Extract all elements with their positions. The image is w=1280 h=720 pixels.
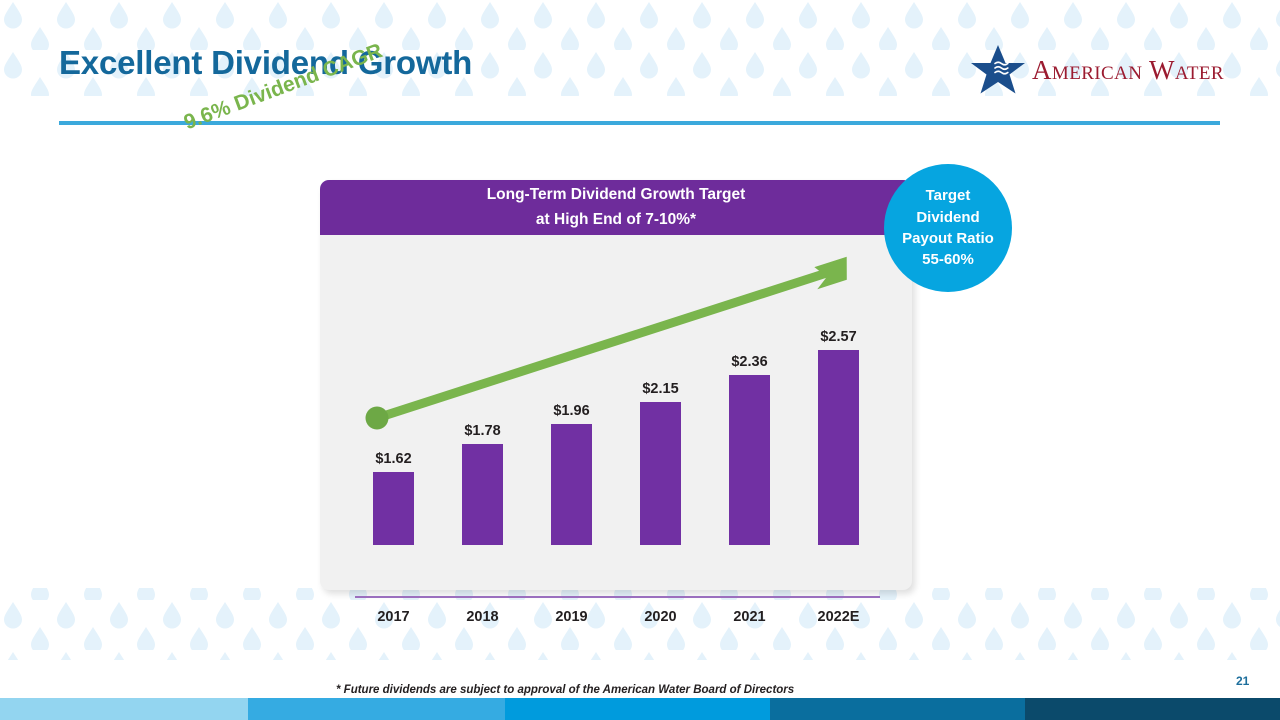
bar-rect xyxy=(818,350,859,545)
bottom-bar-segment-1 xyxy=(0,698,248,720)
callout-line4: 55-60% xyxy=(922,249,974,270)
chart-plot-area: $1.62 $1.78 $1.96 $2.15 $2.36 $2.57 xyxy=(320,235,912,590)
x-axis-categories: 2017 2018 2019 2020 2021 2022E xyxy=(353,609,879,625)
chart-header-line1: Long-Term Dividend Growth Target xyxy=(487,183,746,207)
page-title: Excellent Dividend Growth xyxy=(59,44,472,82)
bar-column: $2.15 xyxy=(620,235,701,545)
x-axis-tick-label: 2022E xyxy=(798,609,879,625)
bar-column: $2.57 xyxy=(798,235,879,545)
bar-value-label: $2.15 xyxy=(642,381,678,397)
callout-line3: Payout Ratio xyxy=(902,228,994,249)
bar-rect xyxy=(729,375,770,545)
x-axis-tick-label: 2020 xyxy=(620,609,701,625)
logo-wordmark: American Water xyxy=(1028,57,1224,84)
x-axis-line xyxy=(355,596,880,598)
bar-column: $1.96 xyxy=(531,235,612,545)
payout-ratio-callout: Target Dividend Payout Ratio 55-60% xyxy=(884,164,1012,292)
x-axis-tick-label: 2019 xyxy=(531,609,612,625)
bar-rect xyxy=(373,472,414,545)
x-axis-tick-label: 2021 xyxy=(709,609,790,625)
american-water-logo: American Water xyxy=(968,44,1220,96)
title-divider xyxy=(59,121,1220,125)
bottom-bar-segment-2 xyxy=(248,698,505,720)
bar-rect xyxy=(462,444,503,545)
bar-value-label: $1.62 xyxy=(375,451,411,467)
page-number: 21 xyxy=(1236,674,1249,688)
footnote: * Future dividends are subject to approv… xyxy=(336,684,794,696)
callout-line1: Target xyxy=(926,185,971,206)
bottom-color-bar xyxy=(0,698,1280,720)
chart-header-line2: at High End of 7-10%* xyxy=(536,208,696,232)
bar-column: $2.36 xyxy=(709,235,790,545)
bar-column: $1.78 xyxy=(442,235,523,545)
dividend-chart-card: Long-Term Dividend Growth Target at High… xyxy=(320,180,912,590)
bar-column: $1.62 xyxy=(353,235,434,545)
callout-line2: Dividend xyxy=(916,207,979,228)
star-icon xyxy=(968,44,1028,96)
x-axis-tick-label: 2018 xyxy=(442,609,523,625)
bar-value-label: $2.36 xyxy=(731,354,767,370)
bottom-bar-segment-3 xyxy=(505,698,770,720)
bar-value-label: $1.96 xyxy=(553,403,589,419)
bottom-bar-segment-4 xyxy=(770,698,1025,720)
bar-value-label: $2.57 xyxy=(820,329,856,345)
bar-value-label: $1.78 xyxy=(464,423,500,439)
bar-rect xyxy=(551,424,592,545)
chart-header: Long-Term Dividend Growth Target at High… xyxy=(320,180,912,235)
bar-series: $1.62 $1.78 $1.96 $2.15 $2.36 $2.57 xyxy=(353,235,879,545)
bottom-bar-segment-5 xyxy=(1025,698,1280,720)
x-axis-tick-label: 2017 xyxy=(353,609,434,625)
bar-rect xyxy=(640,402,681,545)
